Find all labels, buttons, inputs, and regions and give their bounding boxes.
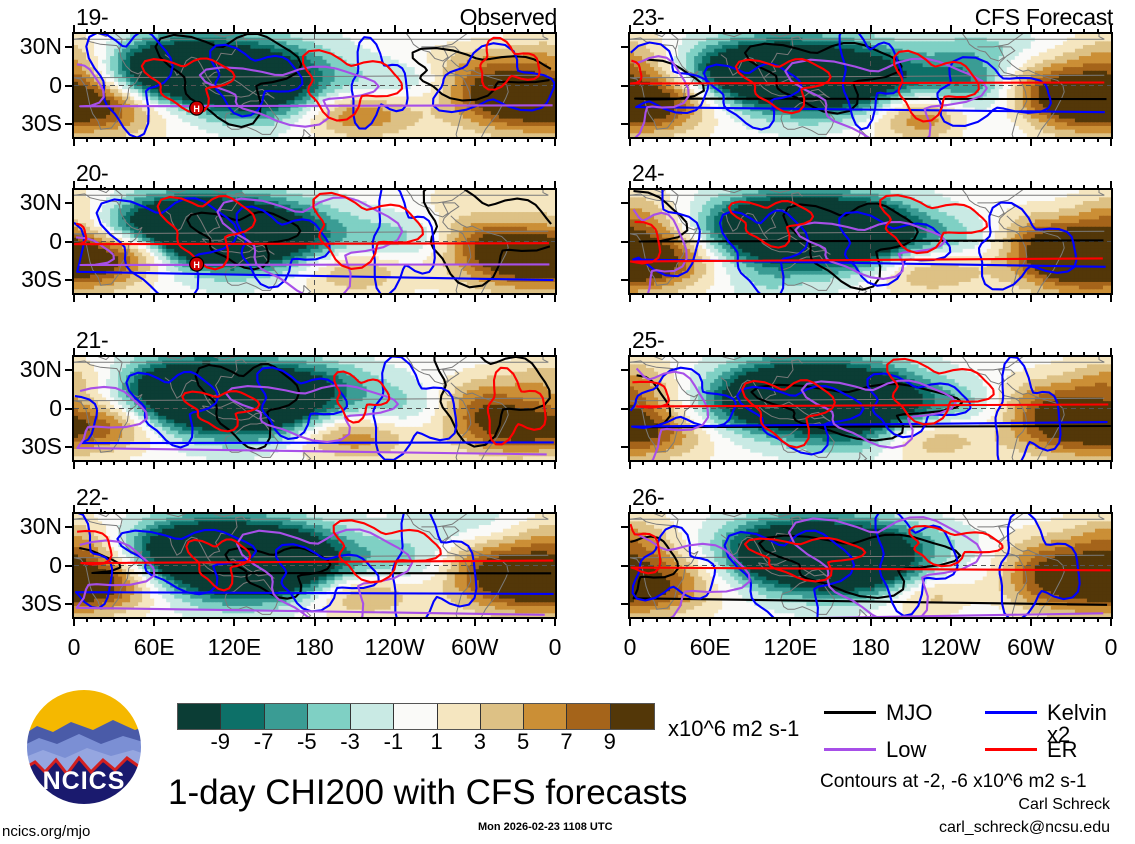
x-tick-mark (1043, 509, 1045, 514)
x-tick-mark (936, 460, 938, 465)
x-tick-mark (723, 460, 725, 465)
x-tick-mark (447, 137, 449, 142)
x-tick-mark (527, 293, 529, 298)
x-tick-mark (1110, 137, 1112, 146)
x-tick-mark (541, 460, 543, 465)
x-tick-mark (990, 352, 992, 357)
x-tick-mark (963, 352, 965, 357)
hurricane-marker: H (190, 257, 204, 271)
logo-text: NCICS (43, 767, 126, 795)
x-tick-mark (709, 348, 711, 357)
x-tick-mark (487, 352, 489, 357)
x-tick-mark (314, 137, 316, 146)
x-tick-mark (153, 181, 155, 190)
legend-line-low (824, 748, 876, 751)
x-tick-mark (1043, 460, 1045, 465)
x-tick-mark (354, 352, 356, 357)
x-tick-mark (314, 25, 316, 34)
x-tick-mark (803, 509, 805, 514)
x-tick-mark (380, 460, 382, 465)
x-tick-mark (896, 293, 898, 298)
x-tick-mark (487, 137, 489, 142)
x-tick-mark (153, 25, 155, 34)
x-tick-mark (514, 29, 516, 34)
x-tick-mark (220, 29, 222, 34)
y-axis-tick-label: 30S (0, 435, 62, 458)
x-tick-mark (247, 352, 249, 357)
x-tick-mark (287, 29, 289, 34)
x-tick-mark (629, 181, 631, 190)
x-tick-mark (936, 185, 938, 190)
x-tick-mark (1030, 348, 1032, 357)
x-tick-mark (126, 460, 128, 465)
x-tick-mark (870, 137, 872, 146)
column-header-forecast: CFS Forecast (943, 6, 1113, 29)
x-tick-mark (1043, 29, 1045, 34)
x-tick-mark (73, 617, 75, 626)
x-tick-mark (314, 348, 316, 357)
x-tick-mark (816, 185, 818, 190)
x-tick-mark (474, 460, 476, 469)
x-axis-tick-label: 180 (826, 636, 916, 659)
x-tick-mark (554, 617, 556, 626)
x-tick-mark (1070, 352, 1072, 357)
contours-note: Contours at -2, -6 x10^6 m2 s-1 (820, 772, 1087, 791)
column-header-observed: Observed (387, 6, 557, 29)
x-tick-mark (260, 460, 262, 465)
x-tick-mark (856, 293, 858, 298)
y-tick-mark (621, 446, 630, 448)
x-tick-mark (682, 137, 684, 142)
map-canvas (72, 512, 557, 619)
x-tick-mark (100, 185, 102, 190)
x-tick-mark (910, 29, 912, 34)
x-tick-mark (763, 352, 765, 357)
x-tick-mark (709, 505, 711, 514)
x-tick-mark (1083, 352, 1085, 357)
x-tick-mark (501, 185, 503, 190)
x-tick-mark (207, 509, 209, 514)
x-tick-mark (923, 29, 925, 34)
x-tick-mark (73, 460, 75, 469)
x-tick-mark (883, 352, 885, 357)
x-tick-mark (976, 617, 978, 622)
y-tick-mark (65, 565, 74, 567)
x-tick-mark (220, 185, 222, 190)
x-tick-mark (380, 137, 382, 142)
x-tick-mark (100, 509, 102, 514)
x-tick-mark (936, 617, 938, 622)
x-tick-mark (870, 181, 872, 190)
colorbar-segment-0 (178, 704, 221, 729)
x-axis-tick-label: 0 (1066, 636, 1135, 659)
x-tick-mark (273, 352, 275, 357)
x-tick-mark (870, 25, 872, 34)
x-tick-mark (856, 137, 858, 142)
x-tick-mark (380, 293, 382, 298)
x-tick-mark (300, 137, 302, 142)
x-tick-mark (273, 509, 275, 514)
x-tick-mark (1057, 460, 1059, 465)
x-tick-mark (629, 25, 631, 34)
x-tick-mark (180, 293, 182, 298)
x-tick-mark (167, 509, 169, 514)
x-tick-mark (541, 185, 543, 190)
x-tick-mark (936, 509, 938, 514)
x-tick-mark (233, 181, 235, 190)
x-tick-mark (829, 509, 831, 514)
x-tick-mark (247, 185, 249, 190)
x-tick-mark (723, 137, 725, 142)
x-tick-mark (629, 505, 631, 514)
x-tick-mark (153, 293, 155, 302)
x-tick-mark (1016, 293, 1018, 298)
x-tick-mark (207, 185, 209, 190)
x-tick-mark (923, 617, 925, 622)
x-tick-mark (1030, 617, 1032, 626)
x-tick-mark (1043, 617, 1045, 622)
x-tick-mark (380, 617, 382, 622)
x-tick-mark (113, 293, 115, 298)
x-tick-mark (682, 509, 684, 514)
x-tick-mark (354, 29, 356, 34)
x-tick-mark (554, 505, 556, 514)
x-tick-mark (394, 505, 396, 514)
x-tick-mark (86, 185, 88, 190)
y-axis-tick-label: 30N (0, 35, 62, 58)
x-tick-mark (950, 181, 952, 190)
x-tick-mark (1003, 293, 1005, 298)
x-tick-mark (990, 509, 992, 514)
x-tick-mark (963, 617, 965, 622)
x-tick-mark (434, 185, 436, 190)
x-tick-mark (950, 617, 952, 626)
x-tick-mark (140, 29, 142, 34)
x-tick-mark (696, 185, 698, 190)
x-tick-mark (936, 29, 938, 34)
x-tick-mark (354, 137, 356, 142)
x-tick-mark (936, 293, 938, 298)
x-tick-mark (407, 509, 409, 514)
x-tick-mark (1097, 509, 1099, 514)
x-tick-mark (1057, 352, 1059, 357)
x-tick-mark (126, 29, 128, 34)
x-tick-mark (140, 460, 142, 465)
x-tick-mark (207, 137, 209, 142)
x-tick-mark (140, 352, 142, 357)
x-tick-mark (367, 185, 369, 190)
x-tick-mark (113, 617, 115, 622)
x-tick-mark (527, 352, 529, 357)
map-canvas (628, 32, 1113, 139)
x-tick-mark (460, 29, 462, 34)
x-tick-mark (394, 137, 396, 146)
x-tick-mark (247, 460, 249, 465)
x-tick-mark (736, 352, 738, 357)
x-tick-mark (233, 137, 235, 146)
x-tick-mark (460, 617, 462, 622)
x-tick-mark (696, 352, 698, 357)
x-tick-mark (474, 181, 476, 190)
x-tick-mark (803, 293, 805, 298)
y-tick-mark (65, 369, 74, 371)
x-tick-mark (193, 460, 195, 465)
x-tick-mark (749, 185, 751, 190)
x-tick-mark (541, 293, 543, 298)
x-tick-mark (936, 352, 938, 357)
x-tick-mark (910, 460, 912, 465)
x-tick-mark (73, 181, 75, 190)
x-tick-mark (883, 460, 885, 465)
x-tick-mark (723, 293, 725, 298)
x-tick-mark (1110, 25, 1112, 34)
x-tick-mark (86, 352, 88, 357)
x-tick-mark (434, 137, 436, 142)
x-tick-mark (963, 293, 965, 298)
x-tick-mark (100, 29, 102, 34)
x-tick-mark (950, 348, 952, 357)
x-tick-mark (434, 617, 436, 622)
x-tick-mark (220, 352, 222, 357)
colorbar-segment-9 (567, 704, 610, 729)
legend-label-low: Low (886, 739, 926, 761)
x-tick-mark (950, 293, 952, 302)
x-tick-mark (870, 617, 872, 626)
x-tick-mark (420, 460, 422, 465)
x-tick-mark (260, 352, 262, 357)
x-tick-mark (1083, 29, 1085, 34)
x-tick-mark (113, 460, 115, 465)
x-tick-mark (883, 617, 885, 622)
x-tick-mark (816, 509, 818, 514)
x-tick-mark (314, 181, 316, 190)
x-tick-mark (287, 293, 289, 298)
x-tick-mark (73, 25, 75, 34)
x-tick-mark (910, 137, 912, 142)
x-tick-mark (140, 185, 142, 190)
x-tick-mark (153, 505, 155, 514)
x-tick-mark (447, 509, 449, 514)
x-tick-mark (642, 509, 644, 514)
x-tick-mark (736, 185, 738, 190)
x-tick-mark (976, 509, 978, 514)
x-tick-mark (514, 185, 516, 190)
colorbar-segment-6 (438, 704, 481, 729)
colorbar-segment-4 (351, 704, 394, 729)
x-tick-mark (696, 29, 698, 34)
x-tick-mark (434, 352, 436, 357)
x-tick-mark (541, 29, 543, 34)
x-tick-mark (554, 137, 556, 146)
author-name: Carl Schreck (860, 797, 1110, 813)
x-tick-mark (1097, 29, 1099, 34)
x-tick-mark (776, 137, 778, 142)
y-tick-mark (65, 603, 74, 605)
x-tick-mark (1016, 352, 1018, 357)
x-tick-mark (153, 137, 155, 146)
x-tick-mark (736, 509, 738, 514)
x-tick-mark (763, 137, 765, 142)
x-tick-mark (669, 29, 671, 34)
x-tick-mark (100, 460, 102, 465)
x-tick-mark (642, 293, 644, 298)
x-tick-mark (843, 460, 845, 465)
x-tick-mark (923, 460, 925, 465)
x-tick-mark (407, 617, 409, 622)
x-tick-mark (669, 617, 671, 622)
x-tick-mark (1083, 185, 1085, 190)
x-tick-mark (300, 509, 302, 514)
x-tick-mark (829, 617, 831, 622)
y-tick-mark (65, 46, 74, 48)
x-tick-mark (167, 460, 169, 465)
x-tick-mark (816, 617, 818, 622)
x-tick-mark (300, 185, 302, 190)
x-tick-mark (327, 509, 329, 514)
x-tick-mark (896, 509, 898, 514)
x-tick-mark (340, 509, 342, 514)
author-email: carl_schreck@ncsu.edu (860, 820, 1110, 836)
x-tick-mark (380, 185, 382, 190)
x-axis-tick-label: 0 (29, 636, 119, 659)
x-tick-mark (776, 352, 778, 357)
x-tick-mark (86, 137, 88, 142)
x-tick-mark (696, 509, 698, 514)
x-tick-mark (527, 460, 529, 465)
y-tick-mark (621, 241, 630, 243)
x-tick-mark (923, 137, 925, 142)
x-tick-mark (73, 505, 75, 514)
y-tick-mark (65, 446, 74, 448)
x-tick-mark (976, 137, 978, 142)
x-tick-mark (803, 29, 805, 34)
x-tick-mark (629, 617, 631, 626)
x-tick-mark (340, 352, 342, 357)
x-tick-mark (207, 29, 209, 34)
x-tick-mark (950, 460, 952, 469)
x-tick-mark (327, 617, 329, 622)
x-tick-mark (803, 352, 805, 357)
x-tick-mark (501, 29, 503, 34)
x-tick-mark (554, 181, 556, 190)
x-tick-mark (460, 185, 462, 190)
x-tick-mark (682, 293, 684, 298)
x-tick-mark (1030, 460, 1032, 469)
colorbar-segment-7 (481, 704, 524, 729)
x-tick-mark (736, 137, 738, 142)
x-tick-mark (883, 29, 885, 34)
x-tick-mark (354, 293, 356, 298)
x-tick-mark (447, 617, 449, 622)
x-tick-mark (843, 185, 845, 190)
x-tick-mark (950, 137, 952, 146)
x-tick-mark (883, 185, 885, 190)
x-tick-mark (527, 509, 529, 514)
x-tick-mark (407, 29, 409, 34)
x-tick-mark (207, 460, 209, 465)
x-axis-tick-label: 60E (665, 636, 755, 659)
x-tick-mark (776, 293, 778, 298)
x-tick-mark (656, 29, 658, 34)
x-tick-mark (843, 617, 845, 622)
x-tick-mark (870, 293, 872, 302)
x-tick-mark (273, 293, 275, 298)
x-tick-mark (642, 29, 644, 34)
x-tick-mark (501, 509, 503, 514)
x-tick-mark (723, 509, 725, 514)
x-tick-mark (1110, 617, 1112, 626)
x-tick-mark (910, 352, 912, 357)
x-tick-mark (963, 460, 965, 465)
x-tick-mark (527, 185, 529, 190)
x-tick-mark (126, 185, 128, 190)
x-tick-mark (896, 617, 898, 622)
x-tick-mark (763, 293, 765, 298)
x-axis-tick-label: 120W (350, 636, 440, 659)
x-tick-mark (233, 617, 235, 626)
y-tick-mark (65, 241, 74, 243)
x-tick-mark (434, 293, 436, 298)
x-tick-mark (843, 293, 845, 298)
x-tick-mark (86, 460, 88, 465)
x-tick-mark (1003, 29, 1005, 34)
x-tick-mark (656, 185, 658, 190)
x-tick-mark (642, 137, 644, 142)
x-tick-mark (870, 505, 872, 514)
x-tick-mark (789, 25, 791, 34)
x-tick-mark (1097, 460, 1099, 465)
x-tick-mark (180, 460, 182, 465)
x-tick-mark (776, 617, 778, 622)
y-tick-mark (621, 408, 630, 410)
x-tick-mark (420, 185, 422, 190)
x-tick-mark (394, 293, 396, 302)
x-tick-mark (514, 352, 516, 357)
ncics-logo: NCICS (23, 686, 145, 808)
y-axis-tick-label: 0 (0, 397, 62, 420)
x-tick-mark (100, 137, 102, 142)
x-tick-mark (287, 185, 289, 190)
x-tick-mark (990, 185, 992, 190)
x-axis-tick-label: 120E (745, 636, 835, 659)
x-tick-mark (1003, 352, 1005, 357)
x-tick-mark (126, 617, 128, 622)
x-tick-mark (1083, 293, 1085, 298)
x-tick-mark (73, 348, 75, 357)
x-tick-mark (1030, 137, 1032, 146)
x-tick-mark (1043, 137, 1045, 142)
legend-line-er (985, 748, 1037, 751)
x-tick-mark (220, 460, 222, 465)
x-tick-mark (420, 617, 422, 622)
x-tick-mark (829, 293, 831, 298)
x-tick-mark (910, 509, 912, 514)
x-tick-mark (896, 460, 898, 465)
x-tick-mark (736, 293, 738, 298)
x-tick-mark (514, 509, 516, 514)
x-tick-mark (749, 617, 751, 622)
x-tick-mark (843, 137, 845, 142)
x-tick-mark (167, 185, 169, 190)
x-tick-mark (1097, 617, 1099, 622)
x-tick-mark (896, 29, 898, 34)
x-tick-mark (420, 293, 422, 298)
x-tick-mark (816, 352, 818, 357)
x-tick-mark (1110, 293, 1112, 302)
x-tick-mark (1003, 617, 1005, 622)
hurricane-marker: H (190, 101, 204, 115)
x-tick-mark (447, 293, 449, 298)
